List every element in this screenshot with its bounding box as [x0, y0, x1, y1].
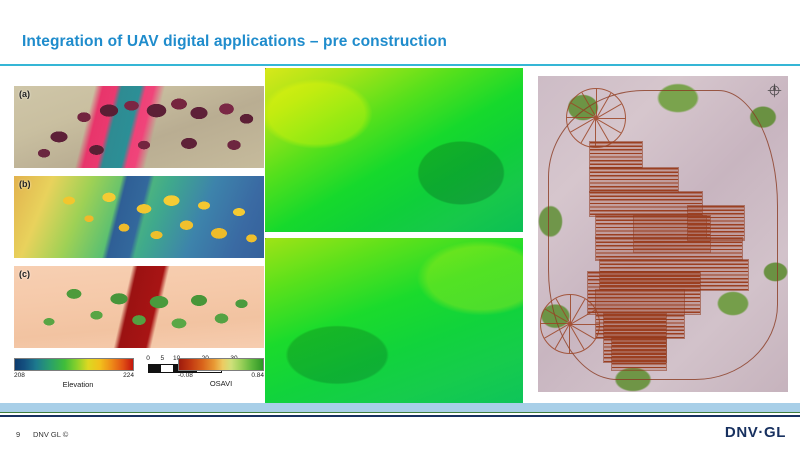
- elevation-caption: Elevation: [14, 380, 134, 389]
- footer-copyright: DNV GL ©: [33, 430, 68, 439]
- elevation-colourbar: [14, 358, 134, 371]
- access-road-rose-south: [540, 294, 600, 354]
- figure-lidar-dsm-village: [265, 68, 523, 232]
- title-divider: [0, 64, 800, 66]
- footer-green-rule: [0, 412, 800, 413]
- north-arrow-icon: [767, 83, 782, 98]
- figure-digital-elevation-model: (b): [14, 176, 264, 258]
- osavi-max-label: 0.84: [251, 372, 264, 379]
- pv-array-block: [596, 238, 742, 260]
- figure-label-a: (a): [19, 89, 30, 99]
- osavi-caption: OSAVI: [178, 379, 264, 388]
- legend-osavi: -0.08 0.84 OSAVI: [178, 358, 264, 388]
- figure-osavi-index-map: (c): [14, 266, 264, 348]
- brand-logo-dnvgl: DNV·GL: [725, 424, 786, 441]
- legend-elevation: 208 224 Elevation: [14, 358, 134, 389]
- footer-page-number: 9: [16, 430, 20, 439]
- figure-label-c: (c): [19, 269, 30, 279]
- footer-band: [0, 403, 800, 412]
- pv-array-block: [612, 338, 666, 370]
- slide-canvas: Integration of UAV digital applications …: [0, 0, 800, 450]
- figure-false-colour-infrared: (a): [14, 86, 264, 168]
- pv-array-block: [590, 192, 702, 216]
- elevation-max-label: 224: [123, 372, 134, 379]
- pv-array-block: [688, 206, 744, 240]
- pv-array-block: [590, 168, 678, 192]
- osavi-min-label: -0.08: [178, 372, 193, 379]
- access-road-rose-north: [566, 88, 626, 148]
- page-title: Integration of UAV digital applications …: [22, 33, 447, 51]
- scale-tick-5: 5: [160, 355, 164, 362]
- figure-lidar-dsm-fields: [265, 238, 523, 405]
- figure-aerial-solar-farm-layout: [538, 76, 788, 392]
- elevation-min-label: 208: [14, 372, 25, 379]
- osavi-colourbar: [178, 358, 264, 371]
- footer-navy-rule: [0, 415, 800, 417]
- figure-label-b: (b): [19, 179, 31, 189]
- scale-tick-0: 0: [146, 355, 150, 362]
